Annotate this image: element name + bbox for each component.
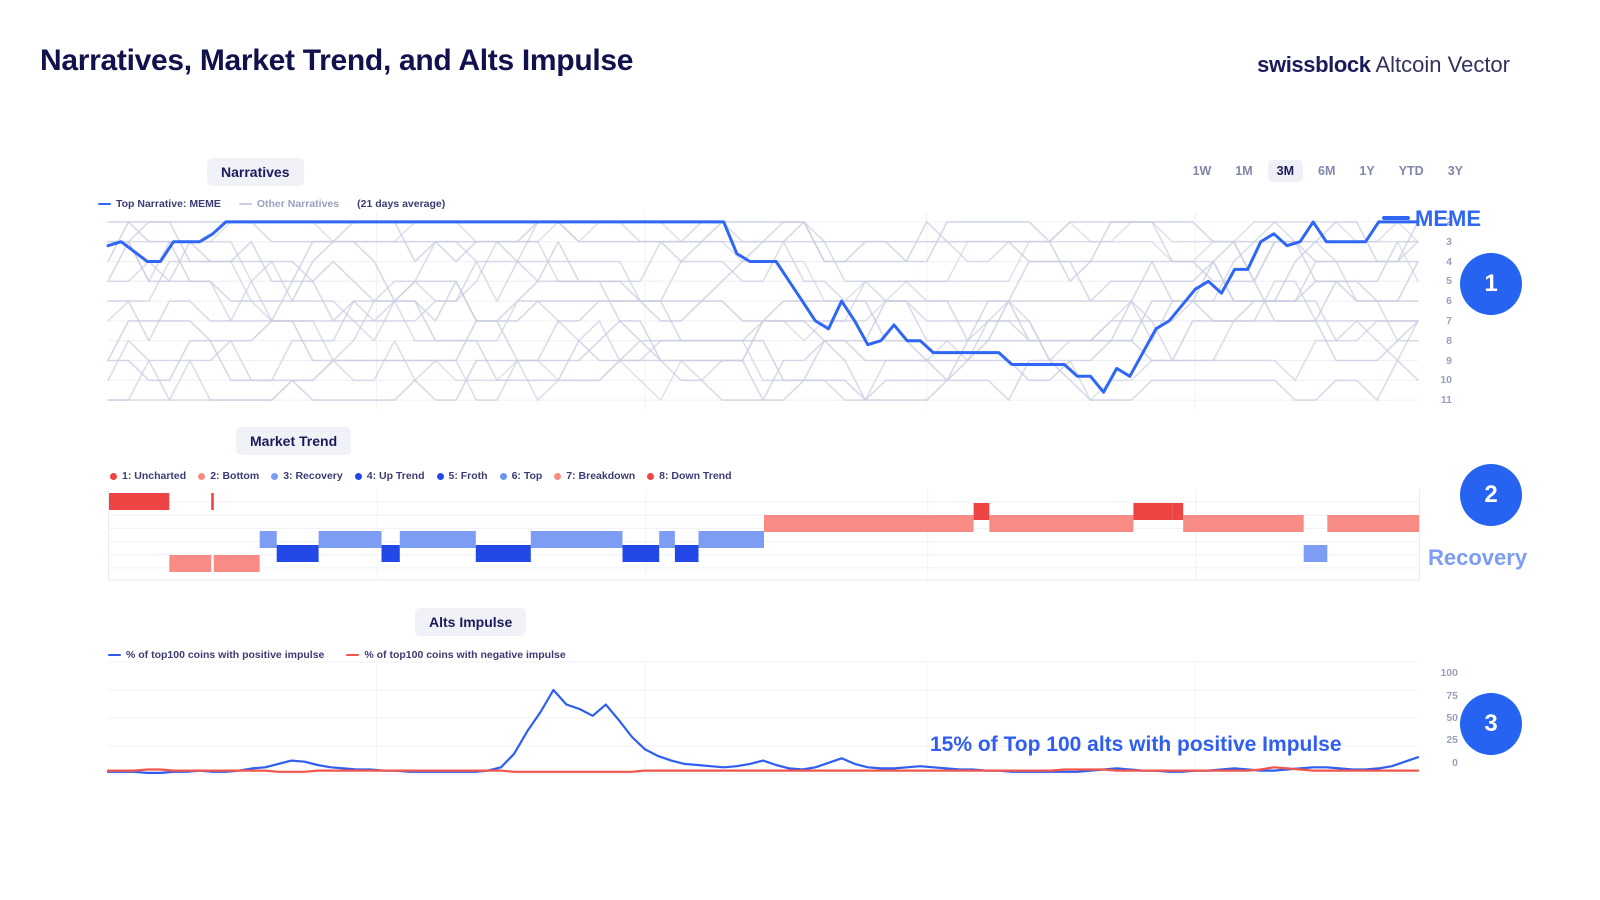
alts-impulse-tab[interactable]: Alts Impulse (415, 608, 526, 636)
range-button-1w[interactable]: 1W (1184, 160, 1221, 182)
legend-dot-icon (500, 473, 507, 480)
impulse-annotation: 15% of Top 100 alts with positive Impuls… (930, 733, 1342, 757)
axis-tick-label: 5 (1446, 275, 1452, 287)
axis-tick-label: 4 (1446, 256, 1452, 268)
legend-label: % of top100 coins with positive impulse (126, 649, 324, 661)
legend-label: 4: Up Trend (367, 470, 425, 482)
axis-tick-label: 100 (1440, 667, 1458, 679)
axis-tick-label: 8 (1446, 335, 1452, 347)
market-trend-plot-svg (109, 489, 1419, 581)
market-trend-legend: 1: Uncharted2: Bottom3: Recovery4: Up Tr… (110, 470, 732, 482)
axis-tick-label: 9 (1446, 355, 1452, 367)
axis-tick-label: 75 (1446, 690, 1458, 702)
meme-line-marker (1382, 216, 1410, 220)
legend-dot-icon (198, 473, 205, 480)
legend-item[interactable]: 2: Bottom (198, 470, 259, 482)
market-trend-chart[interactable] (108, 489, 1420, 581)
alts-impulse-chart[interactable] (108, 662, 1418, 774)
legend-dot-icon (271, 473, 278, 480)
axis-tick-label: 6 (1446, 295, 1452, 307)
brand-logo: swissblock Altcoin Vector (1257, 52, 1510, 78)
brand-product: Altcoin Vector (1371, 52, 1510, 77)
range-button-ytd[interactable]: YTD (1390, 160, 1433, 182)
page-header: Narratives, Market Trend, and Alts Impul… (0, 0, 1600, 110)
narratives-y-axis: 234567891011 (1424, 212, 1452, 410)
legend-label: 2: Bottom (210, 470, 259, 482)
narratives-chart[interactable] (108, 212, 1418, 410)
page-title: Narratives, Market Trend, and Alts Impul… (40, 44, 633, 78)
legend-line-icon (108, 654, 121, 656)
axis-tick-label: 3 (1446, 236, 1452, 248)
range-button-6m[interactable]: 6M (1309, 160, 1344, 182)
legend-item[interactable]: 3: Recovery (271, 470, 343, 482)
step-badge-2: 2 (1460, 464, 1522, 526)
legend-label: % of top100 coins with negative impulse (364, 649, 565, 661)
time-range-selector[interactable]: 1W1M3M6M1YYTD3Y (1184, 160, 1472, 182)
legend-label: 6: Top (512, 470, 543, 482)
legend-note: (21 days average) (357, 198, 445, 210)
range-button-3y[interactable]: 3Y (1439, 160, 1472, 182)
legend-label: Top Narrative: MEME (116, 198, 221, 210)
legend-item[interactable]: 5: Froth (437, 470, 488, 482)
narratives-plot-svg (108, 212, 1418, 410)
legend-item[interactable]: 7: Breakdown (554, 470, 635, 482)
legend-label: Other Narratives (257, 198, 339, 210)
recovery-annotation: Recovery (1428, 545, 1527, 571)
legend-item[interactable]: 1: Uncharted (110, 470, 186, 482)
legend-item[interactable]: Top Narrative: MEME (98, 198, 221, 210)
meme-annotation: MEME (1415, 206, 1481, 232)
legend-dot-icon (355, 473, 362, 480)
legend-dot-icon (554, 473, 561, 480)
legend-line-icon (239, 203, 252, 205)
narratives-legend: Top Narrative: MEMEOther Narratives(21 d… (98, 198, 445, 210)
narratives-tab[interactable]: Narratives (207, 158, 304, 186)
legend-label: 1: Uncharted (122, 470, 186, 482)
dashboard-page: Narratives, Market Trend, and Alts Impul… (0, 0, 1600, 900)
legend-line-icon (346, 654, 359, 656)
axis-tick-label: 10 (1440, 374, 1452, 386)
step-badge-1: 1 (1460, 253, 1522, 315)
legend-label: 8: Down Trend (659, 470, 731, 482)
legend-item[interactable]: Other Narratives (239, 198, 339, 210)
axis-tick-label: 11 (1441, 394, 1452, 406)
legend-line-icon (98, 203, 111, 205)
range-button-3m[interactable]: 3M (1268, 160, 1303, 182)
legend-label: 5: Froth (449, 470, 488, 482)
legend-item[interactable]: 4: Up Trend (355, 470, 425, 482)
legend-item[interactable]: 8: Down Trend (647, 470, 731, 482)
axis-tick-label: 25 (1446, 734, 1458, 746)
legend-item[interactable]: % of top100 coins with positive impulse (108, 649, 324, 661)
legend-item[interactable]: 6: Top (500, 470, 543, 482)
legend-dot-icon (110, 473, 117, 480)
axis-tick-label: 7 (1446, 315, 1452, 327)
alts-impulse-plot-svg (108, 662, 1418, 774)
step-badge-3: 3 (1460, 693, 1522, 755)
alts-impulse-y-axis: 1007550250 (1428, 662, 1458, 774)
brand-name: swissblock (1257, 52, 1370, 77)
axis-tick-label: 0 (1452, 757, 1458, 769)
range-button-1y[interactable]: 1Y (1350, 160, 1383, 182)
legend-dot-icon (647, 473, 654, 480)
legend-dot-icon (437, 473, 444, 480)
legend-label: 3: Recovery (283, 470, 343, 482)
legend-label: 7: Breakdown (566, 470, 635, 482)
range-button-1m[interactable]: 1M (1226, 160, 1261, 182)
axis-tick-label: 50 (1446, 712, 1458, 724)
legend-item[interactable]: % of top100 coins with negative impulse (346, 649, 565, 661)
market-trend-tab[interactable]: Market Trend (236, 427, 351, 455)
alts-impulse-legend: % of top100 coins with positive impulse%… (108, 649, 566, 661)
